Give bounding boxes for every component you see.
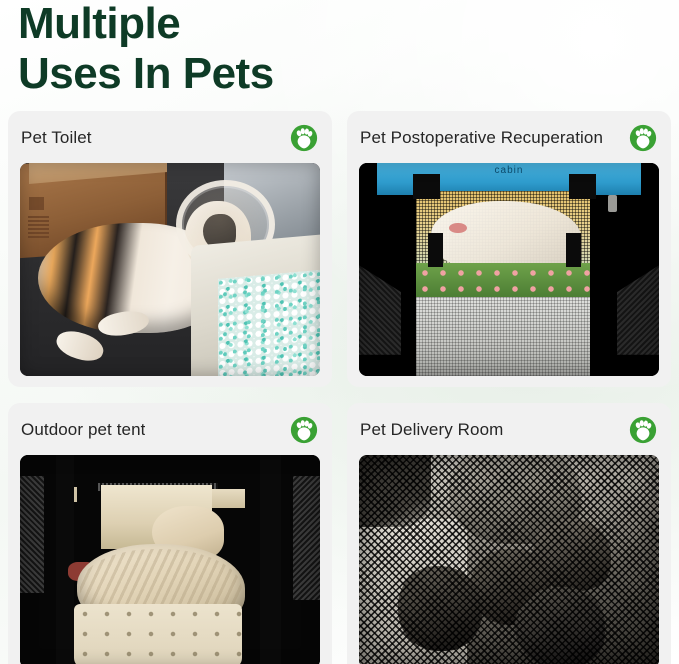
use-case-card-pet-delivery-room[interactable]: Pet Delivery Room bbox=[347, 403, 671, 664]
card-photo-postoperative-recuperation: cabin bbox=[359, 163, 659, 376]
use-case-card-pet-toilet[interactable]: Pet Toilet bbox=[8, 111, 332, 387]
use-case-card-outdoor-pet-tent[interactable]: Outdoor pet tent bbox=[8, 403, 332, 664]
card-header: Pet Toilet bbox=[20, 121, 320, 155]
card-photo-outdoor-pet-tent bbox=[20, 455, 320, 664]
title-line-1: Multiple bbox=[18, 0, 671, 48]
paw-icon bbox=[290, 416, 318, 444]
paw-icon bbox=[629, 416, 657, 444]
card-title: Outdoor pet tent bbox=[21, 420, 145, 440]
card-header: Outdoor pet tent bbox=[20, 413, 320, 447]
card-title: Pet Postoperative Recuperation bbox=[360, 128, 603, 148]
card-photo-pet-toilet bbox=[20, 163, 320, 376]
title-line-2: Uses In Pets bbox=[18, 48, 671, 98]
page-title: Multiple Uses In Pets bbox=[8, 0, 671, 108]
card-photo-pet-delivery-room bbox=[359, 455, 659, 664]
card-title: Pet Delivery Room bbox=[360, 420, 503, 440]
use-case-card-postoperative-recuperation[interactable]: Pet Postoperative Recuperation cabin bbox=[347, 111, 671, 387]
card-header: Pet Delivery Room bbox=[359, 413, 659, 447]
card-title: Pet Toilet bbox=[21, 128, 92, 148]
card-header: Pet Postoperative Recuperation bbox=[359, 121, 659, 155]
carrier-brand-text: cabin bbox=[359, 165, 659, 176]
use-case-grid: Pet Toilet bbox=[8, 108, 671, 664]
paw-icon bbox=[290, 124, 318, 152]
page-root: Multiple Uses In Pets Pet Toilet bbox=[0, 0, 679, 664]
paw-icon bbox=[629, 124, 657, 152]
